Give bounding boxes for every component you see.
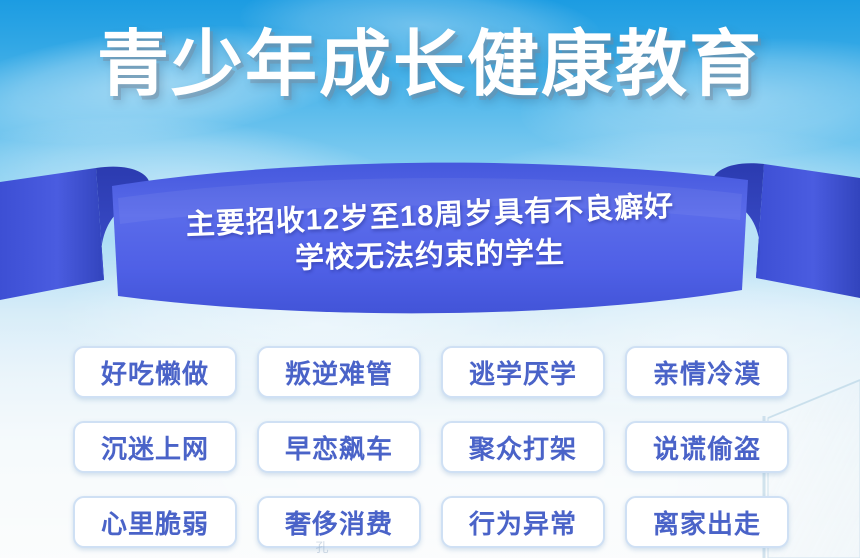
behavior-tag-grid: 好吃懒做 叛逆难管 逃学厌学 亲情冷漠 沉迷上网 早恋飙车 聚众打架 说谎偷盗 … [73,346,789,548]
tag-item[interactable]: 逃学厌学 [441,346,605,398]
tag-item[interactable]: 沉迷上网 [73,421,237,473]
poster-root: 青少年成长健康教育 [0,0,860,558]
tag-item[interactable]: 叛逆难管 [257,346,421,398]
tag-item[interactable]: 说谎偷盗 [625,421,789,473]
tag-item[interactable]: 心里脆弱 [73,496,237,548]
ribbon-banner [0,150,860,325]
tag-item[interactable]: 行为异常 [441,496,605,548]
ribbon-shape-icon [0,150,860,325]
page-title: 青少年成长健康教育 [0,28,860,104]
tag-item[interactable]: 亲情冷漠 [625,346,789,398]
tag-item[interactable]: 奢侈消费 [257,496,421,548]
tag-item[interactable]: 好吃懒做 [73,346,237,398]
tag-item[interactable]: 聚众打架 [441,421,605,473]
tag-item[interactable]: 早恋飙车 [257,421,421,473]
tag-item[interactable]: 离家出走 [625,496,789,548]
